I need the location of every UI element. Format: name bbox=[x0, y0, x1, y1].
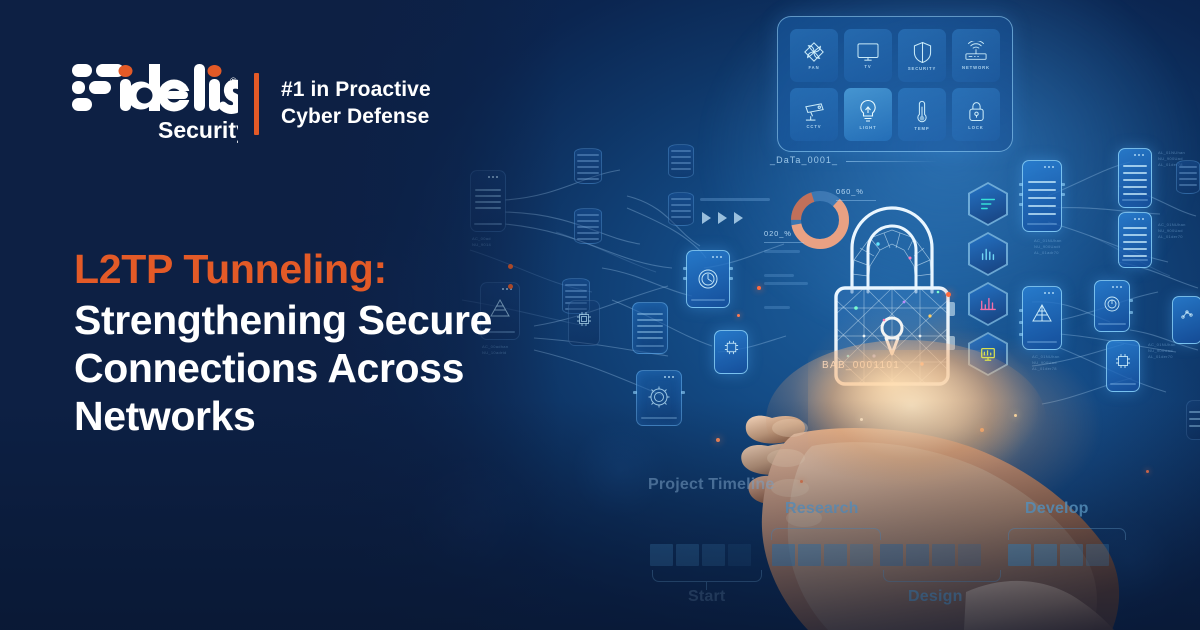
clock-icon bbox=[687, 266, 729, 292]
node-dots bbox=[1044, 166, 1054, 168]
database-node bbox=[668, 144, 694, 178]
logo-dot bbox=[208, 65, 222, 77]
control-label: LOCK bbox=[968, 125, 983, 130]
data-panel-rule bbox=[846, 161, 938, 162]
router-icon bbox=[963, 41, 989, 63]
control-label: TV bbox=[864, 64, 871, 69]
network-node-card bbox=[1118, 148, 1152, 208]
particle bbox=[946, 292, 951, 297]
database-node bbox=[574, 148, 602, 184]
headline-main: Strengthening Secure Connections Across … bbox=[74, 296, 674, 441]
control-cell-cctv[interactable]: CCTV bbox=[790, 88, 838, 141]
node-dots bbox=[712, 256, 722, 258]
thermometer-icon bbox=[915, 99, 929, 124]
data-panel-tag: _DaTa_0001_ bbox=[770, 155, 838, 165]
control-cell-temp[interactable]: TEMP bbox=[898, 88, 946, 141]
control-cell-tv[interactable]: TV bbox=[844, 29, 892, 82]
donut-segment-label: 060_% bbox=[836, 187, 864, 196]
database-node bbox=[574, 208, 602, 244]
control-cell-light[interactable]: LIGHT bbox=[844, 88, 892, 141]
logo-dot bbox=[119, 65, 133, 77]
scatter-node-card bbox=[1172, 296, 1200, 344]
play-arrows-icon bbox=[702, 212, 743, 224]
headline-accent: L2TP Tunneling: bbox=[74, 246, 674, 294]
node-dots bbox=[1112, 286, 1122, 288]
padlock-icon bbox=[967, 99, 986, 123]
database-node bbox=[1176, 160, 1200, 194]
header-divider bbox=[254, 73, 259, 135]
shield-icon bbox=[913, 41, 932, 64]
control-cell-fan[interactable]: FAN bbox=[790, 29, 838, 82]
node-dots bbox=[1044, 292, 1054, 294]
control-cell-network[interactable]: NETWORK bbox=[952, 29, 1000, 82]
fidelis-logo[interactable]: ® Security bbox=[70, 62, 238, 146]
control-label: CCTV bbox=[807, 124, 822, 129]
brand-tagline: #1 in Proactive Cyber Defense bbox=[281, 77, 431, 131]
headline-block: L2TP Tunneling: Strengthening Secure Con… bbox=[74, 246, 674, 441]
control-label: FAN bbox=[808, 65, 819, 70]
control-label: TEMP bbox=[914, 126, 929, 131]
donut-label-rule bbox=[764, 242, 804, 243]
control-cell-lock[interactable]: LOCK bbox=[952, 88, 1000, 141]
arrow-rule bbox=[700, 198, 770, 201]
trademark-symbol: ® bbox=[230, 76, 237, 86]
data-panel-stub bbox=[764, 274, 794, 277]
fan-icon bbox=[803, 41, 825, 63]
control-panel-grid: FAN TV SECURITY bbox=[790, 29, 1000, 141]
smart-control-panel[interactable]: FAN TV SECURITY bbox=[777, 16, 1013, 152]
donut-segment-label: 020_% bbox=[764, 229, 792, 238]
bar-chart-hex-icon[interactable] bbox=[968, 182, 1008, 226]
node-dots bbox=[1134, 218, 1144, 220]
scatter-chart-icon bbox=[1173, 306, 1200, 322]
hero-banner: AC_00adNU_9014 AC_00adhanNU_10adrtd bbox=[0, 0, 1200, 630]
node-dots bbox=[1134, 154, 1144, 156]
control-cell-security[interactable]: SECURITY bbox=[898, 29, 946, 82]
lightbulb-icon bbox=[858, 99, 878, 123]
brand-header: ® Security #1 in Proactive Cyber Defense bbox=[70, 62, 431, 146]
logo-subtitle: Security bbox=[158, 117, 238, 143]
control-label: SECURITY bbox=[908, 66, 936, 71]
tv-icon bbox=[856, 42, 880, 62]
control-label: NETWORK bbox=[962, 65, 990, 70]
data-panel-stub bbox=[764, 250, 800, 253]
column-chart-hex-icon[interactable] bbox=[968, 232, 1008, 276]
particle bbox=[737, 314, 740, 317]
control-label: LIGHT bbox=[859, 125, 876, 130]
network-node-card bbox=[1118, 212, 1152, 268]
cctv-camera-icon bbox=[802, 101, 827, 122]
particle bbox=[757, 286, 761, 290]
database-node bbox=[668, 192, 694, 226]
data-panel-stub bbox=[764, 282, 808, 285]
network-node-card bbox=[1022, 160, 1062, 232]
